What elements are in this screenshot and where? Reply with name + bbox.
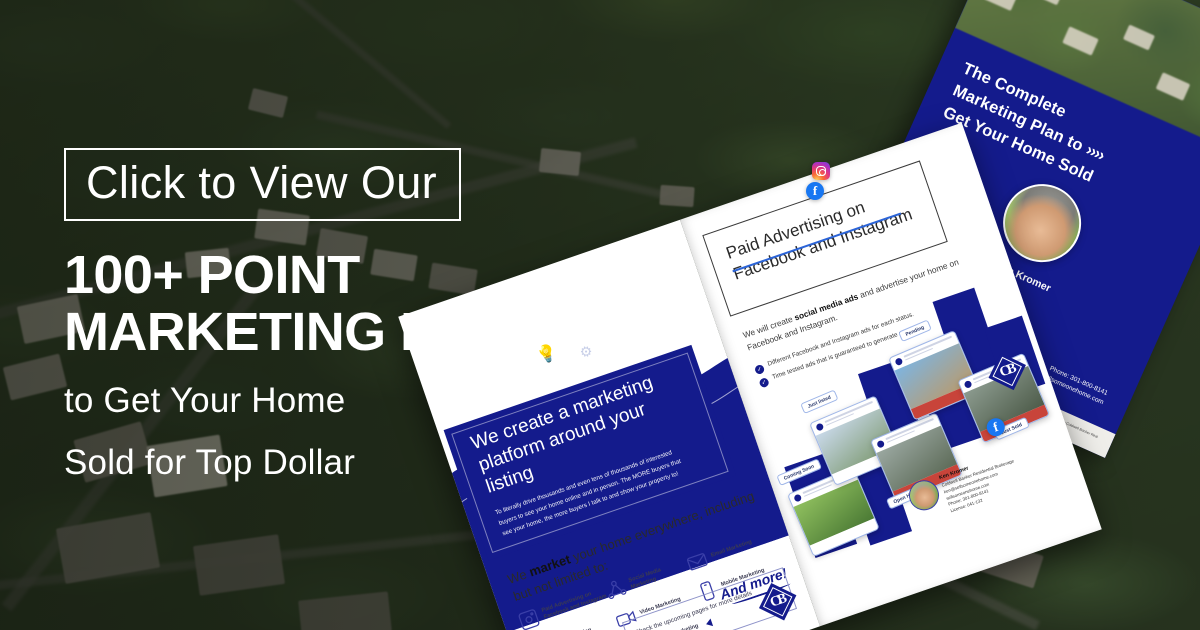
subheadline-line-2: Sold for Top Dollar bbox=[64, 441, 584, 485]
promo-banner: Click to View Our 100+ POINT MARKETING P… bbox=[0, 0, 1200, 630]
triangle-pointer-icon bbox=[705, 619, 713, 629]
channel-label: Email Marketing bbox=[710, 539, 753, 560]
chevron-right-icon: ›››› bbox=[1083, 141, 1107, 165]
instagram-icon bbox=[812, 162, 830, 180]
headline-line-2: MARKETING PLAN bbox=[64, 304, 584, 361]
facebook-icon: f bbox=[806, 182, 824, 200]
promo-headline-block: Click to View Our 100+ POINT MARKETING P… bbox=[64, 148, 584, 485]
click-cta-label: Click to View Our bbox=[86, 160, 437, 205]
click-to-view-cta[interactable]: Click to View Our bbox=[64, 148, 461, 221]
headline-line-1: 100+ POINT bbox=[64, 247, 584, 304]
subheadline-line-1: to Get Your Home bbox=[64, 379, 584, 423]
